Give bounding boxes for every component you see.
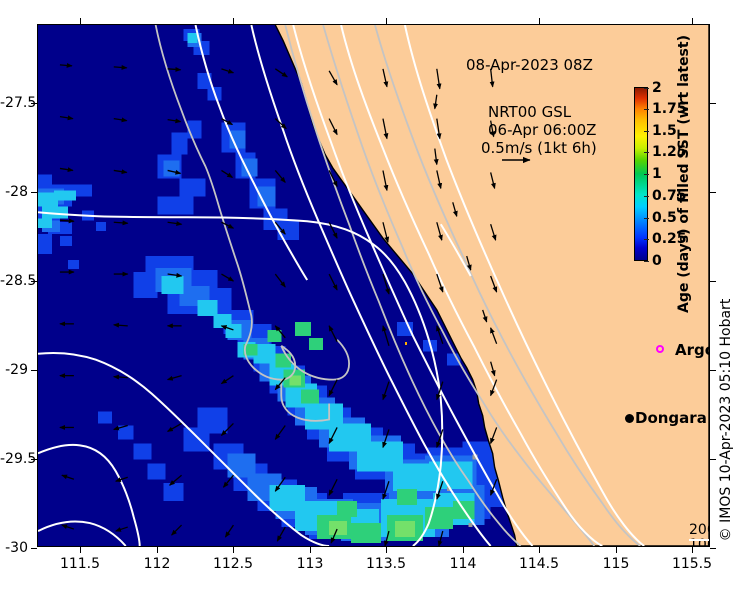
y-tick-5 bbox=[31, 548, 37, 549]
x-tick-top-4 bbox=[386, 18, 387, 24]
x-tick-0 bbox=[80, 547, 81, 553]
x-tick-label-3: 113 bbox=[297, 556, 324, 572]
colorbar-tick-6 bbox=[644, 131, 649, 132]
colorbar-tick-7 bbox=[644, 109, 649, 110]
x-tick-label-4: 113.5 bbox=[366, 556, 406, 572]
colorbar-tick-8 bbox=[644, 88, 649, 89]
argo-site-label: Argo bbox=[675, 341, 710, 359]
colorbar-label-6: 1.5 bbox=[652, 123, 677, 139]
colorbar-tick-4 bbox=[644, 174, 649, 175]
x-tick-4 bbox=[386, 547, 387, 553]
x-tick-label-8: 115.5 bbox=[672, 556, 712, 572]
map-plot-area[interactable]: 08-Apr-2023 08Z NRT00 GSL 06-Apr 06:00Z … bbox=[37, 24, 710, 547]
x-tick-3 bbox=[310, 547, 311, 553]
colorbar-tick-2 bbox=[644, 218, 649, 219]
colorbar-tick-1 bbox=[644, 239, 649, 240]
x-tick-top-8 bbox=[692, 18, 693, 24]
vector-legend-line1: NRT00 GSL bbox=[488, 103, 571, 121]
depth-key-200m-line bbox=[689, 539, 710, 541]
y-tick-right-3 bbox=[710, 370, 716, 371]
colorbar-label-2: 0.5 bbox=[652, 210, 677, 226]
colorbar-label-0: 0 bbox=[652, 253, 662, 269]
x-tick-1 bbox=[157, 547, 158, 553]
y-tick-right-4 bbox=[710, 459, 716, 460]
map-title-date: 08-Apr-2023 08Z bbox=[466, 56, 593, 74]
y-tick-label-3: -29 bbox=[0, 362, 28, 378]
dongara-marker-icon bbox=[625, 414, 634, 423]
y-tick-label-5: -30 bbox=[0, 540, 28, 556]
colorbar-title: Age (days) of filled SST (wrt latest) bbox=[676, 35, 692, 313]
argo-marker-icon bbox=[656, 345, 664, 353]
y-tick-3 bbox=[31, 370, 37, 371]
x-tick-label-7: 115 bbox=[603, 556, 630, 572]
x-tick-label-2: 112.5 bbox=[213, 556, 253, 572]
y-tick-label-1: -28 bbox=[0, 184, 28, 200]
x-tick-5 bbox=[463, 547, 464, 553]
x-tick-8 bbox=[692, 547, 693, 553]
figure-root: 08-Apr-2023 08Z NRT00 GSL 06-Apr 06:00Z … bbox=[0, 0, 740, 592]
colorbar-label-4: 1 bbox=[652, 166, 662, 182]
x-tick-2 bbox=[233, 547, 234, 553]
y-tick-right-2 bbox=[710, 281, 716, 282]
y-tick-right-0 bbox=[710, 103, 716, 104]
y-tick-1 bbox=[31, 192, 37, 193]
dongara-site-label: Dongara bbox=[635, 409, 707, 427]
x-tick-label-1: 112 bbox=[144, 556, 171, 572]
y-tick-right-1 bbox=[710, 192, 716, 193]
x-tick-label-6: 114.5 bbox=[519, 556, 559, 572]
x-tick-6 bbox=[539, 547, 540, 553]
x-tick-top-2 bbox=[233, 18, 234, 24]
y-tick-label-2: -28.5 bbox=[0, 273, 28, 289]
colorbar-label-8: 2 bbox=[652, 80, 662, 96]
vector-legend-arrow-icon bbox=[500, 153, 540, 167]
y-tick-label-0: -27.5 bbox=[0, 95, 28, 111]
colorbar-tick-3 bbox=[644, 196, 649, 197]
depth-key-200m-label: 200m bbox=[689, 523, 710, 538]
x-tick-top-0 bbox=[80, 18, 81, 24]
colorbar-tick-0 bbox=[644, 261, 649, 262]
depth-contour-key: 200m 1000m bbox=[689, 523, 710, 547]
vector-legend-line2: 06-Apr 06:00Z bbox=[488, 121, 596, 139]
current-vector-layer bbox=[38, 25, 709, 546]
y-tick-label-4: -29.5 bbox=[0, 451, 28, 467]
x-tick-label-5: 114 bbox=[450, 556, 477, 572]
x-tick-7 bbox=[616, 547, 617, 553]
colorbar-tick-5 bbox=[644, 152, 649, 153]
y-tick-right-5 bbox=[710, 548, 716, 549]
x-tick-top-6 bbox=[539, 18, 540, 24]
copyright-credit: © IMOS 10-Apr-2023 05:10 Hobart bbox=[718, 299, 734, 542]
x-tick-label-0: 111.5 bbox=[60, 556, 100, 572]
